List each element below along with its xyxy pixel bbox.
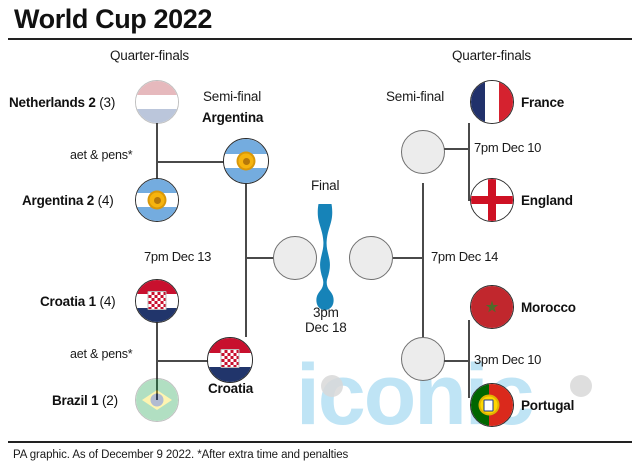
round-label-quarter-finals-right: Quarter-finals xyxy=(452,48,531,63)
bracket-line-semi-left-lower xyxy=(245,258,247,337)
world-cup-trophy-icon xyxy=(309,202,341,312)
flag-node-argentina-semi[interactable] xyxy=(223,138,269,184)
match-note-aet-pens-bottom-left: aet & pens* xyxy=(70,347,132,361)
bracket-line-semi-left-upper xyxy=(245,184,247,258)
world-cup-bracket-graphic: iconic World Cup 2022 Quarter-finals Qua… xyxy=(0,0,640,472)
croatia-flag-icon xyxy=(136,280,178,322)
final-time: 3pm xyxy=(313,305,339,320)
team-label-england: England xyxy=(521,193,573,208)
bracket-line-semi-left-to-final xyxy=(245,257,274,259)
round-label-final: Final xyxy=(311,178,339,193)
bracket-line-semi-right-upper xyxy=(422,183,424,258)
bracket-line-qf-right-top-in xyxy=(444,148,469,150)
portugal-flag-icon xyxy=(471,384,513,426)
flag-node-argentina-qf[interactable] xyxy=(135,178,179,222)
team-label-argentina-semi: Argentina xyxy=(202,110,263,125)
team-label-netherlands: Netherlands 2 (3) xyxy=(9,95,115,110)
flag-node-brazil[interactable] xyxy=(135,378,179,422)
france-flag-icon xyxy=(471,81,513,123)
bracket-line-semi-right-to-final xyxy=(393,257,423,259)
team-label-morocco: Morocco xyxy=(521,300,576,315)
watermark-dot-left xyxy=(321,375,343,397)
final-date: Dec 18 xyxy=(305,320,347,335)
footer-divider xyxy=(8,441,632,443)
semi-final-slot-right-top[interactable] xyxy=(401,130,445,174)
semi-final-slot-right-bottom[interactable] xyxy=(401,337,445,381)
england-flag-icon xyxy=(471,179,513,221)
match-time-qf-right-bottom: 3pm Dec 10 xyxy=(474,352,541,367)
match-time-semi-final-left: 7pm Dec 13 xyxy=(144,249,211,264)
flag-node-netherlands[interactable] xyxy=(135,80,179,124)
flag-node-croatia-qf[interactable] xyxy=(135,279,179,323)
match-time-qf-right-top: 7pm Dec 10 xyxy=(474,140,541,155)
round-label-semi-final-left: Semi-final xyxy=(203,89,261,104)
flag-node-france[interactable] xyxy=(470,80,514,124)
page-title: World Cup 2022 xyxy=(14,4,212,35)
netherlands-flag-icon xyxy=(136,81,178,123)
match-time-semi-final-right: 7pm Dec 14 xyxy=(431,249,498,264)
bracket-line-qf-right-bottom-spine xyxy=(468,320,470,398)
flag-node-england[interactable] xyxy=(470,178,514,222)
team-label-argentina-qf: Argentina 2 (4) xyxy=(22,193,114,208)
flag-node-croatia-semi[interactable] xyxy=(207,337,253,383)
flag-node-portugal[interactable] xyxy=(470,383,514,427)
header-divider xyxy=(8,38,632,40)
team-label-brazil: Brazil 1 (2) xyxy=(52,393,118,408)
round-label-semi-final-right: Semi-final xyxy=(386,89,444,104)
team-label-croatia-qf: Croatia 1 (4) xyxy=(40,294,115,309)
match-note-aet-pens-top-left: aet & pens* xyxy=(70,148,132,162)
bracket-line-qf-right-top-spine xyxy=(468,123,470,201)
argentina-flag-icon xyxy=(136,179,178,221)
source-credit: PA graphic. As of December 9 2022. *Afte… xyxy=(13,449,348,461)
final-slot-right[interactable] xyxy=(349,236,393,280)
bracket-line-qf-right-bottom-in xyxy=(444,360,469,362)
team-label-croatia-semi: Croatia xyxy=(208,381,253,396)
morocco-flag-icon xyxy=(471,286,513,328)
team-label-france: France xyxy=(521,95,564,110)
round-label-quarter-finals-left: Quarter-finals xyxy=(110,48,189,63)
croatia-flag-icon-semi xyxy=(208,338,252,382)
team-label-portugal: Portugal xyxy=(521,398,574,413)
watermark-dot-right xyxy=(570,375,592,397)
flag-node-morocco[interactable] xyxy=(470,285,514,329)
bracket-line-qf-left-top-out xyxy=(156,161,224,163)
argentina-flag-icon-semi xyxy=(224,139,268,183)
brazil-flag-icon xyxy=(136,379,178,421)
bracket-line-semi-right-lower xyxy=(422,257,424,337)
